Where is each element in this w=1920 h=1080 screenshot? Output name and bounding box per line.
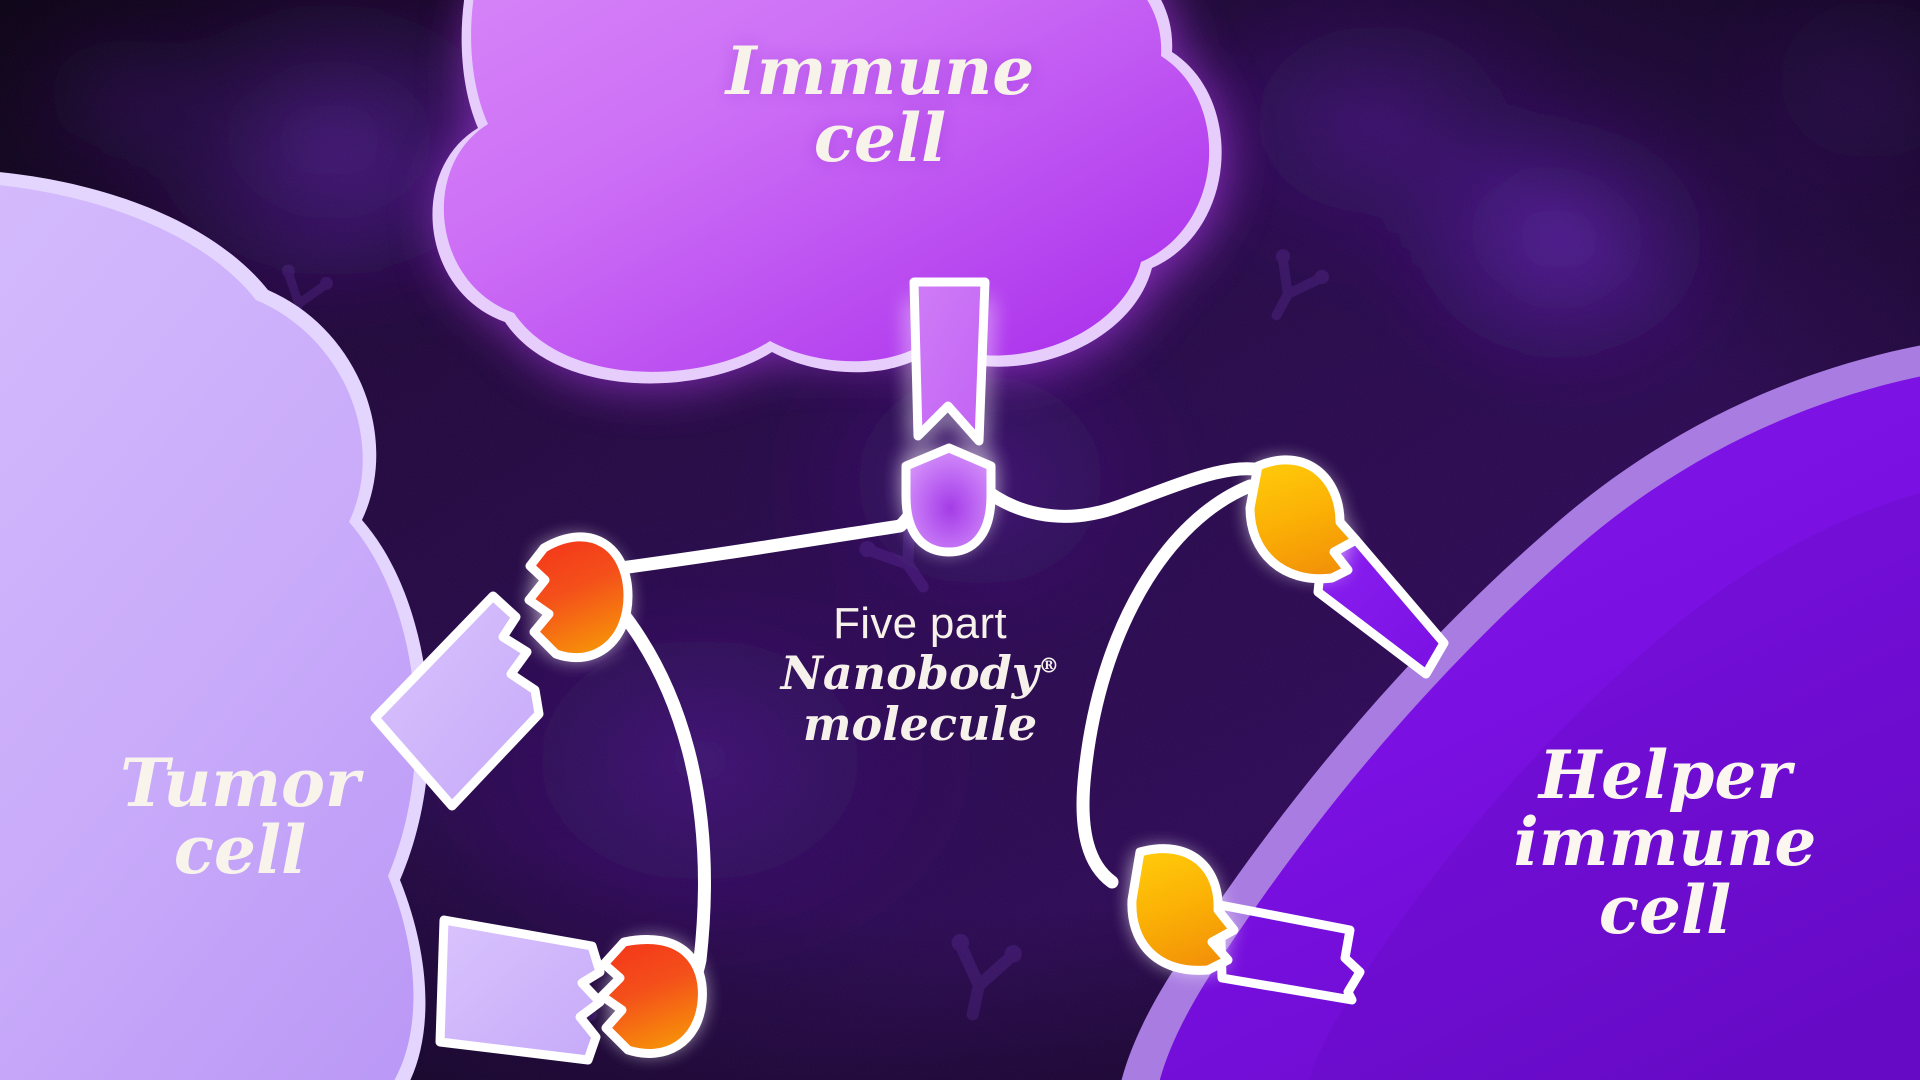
label-nanobody-molecule: Five part Nanobody® molecule [740, 600, 1100, 751]
tumor-binder-lower-shape [602, 939, 702, 1053]
tumor-antigen-lower[interactable] [440, 920, 600, 1060]
illustration-canvas: Immune cell Tumor cell Helper immune cel… [0, 0, 1920, 1080]
label-nanobody-word: Nanobody [781, 646, 1039, 700]
label-tumor-cell-line1: Tumor [120, 744, 360, 822]
tumor-antigen-lower-shape [440, 920, 600, 1060]
label-helper-immune-cell: Helper immune cell [1440, 742, 1890, 944]
registered-trademark-icon: ® [1039, 653, 1060, 677]
label-helper-line2: immune [1514, 803, 1817, 881]
tumor-binder-upper-shape [529, 537, 628, 658]
label-immune-cell-line2: cell [814, 99, 946, 177]
nanobody-hub-binder[interactable] [905, 448, 992, 552]
label-helper-line1: Helper [1539, 736, 1791, 814]
label-nanobody: Nanobody® [740, 648, 1100, 700]
label-helper-line3: cell [1599, 871, 1731, 949]
nanobody-hub-shape [906, 448, 991, 552]
tumor-binder-lower[interactable] [602, 939, 702, 1053]
label-tumor-cell-line2: cell [174, 811, 306, 889]
label-tumor-cell: Tumor cell [30, 750, 450, 885]
label-immune-cell: Immune cell [620, 38, 1140, 173]
tumor-binder-upper[interactable] [529, 537, 628, 658]
label-five-part: Five part [740, 600, 1100, 648]
label-molecule: molecule [740, 699, 1100, 751]
